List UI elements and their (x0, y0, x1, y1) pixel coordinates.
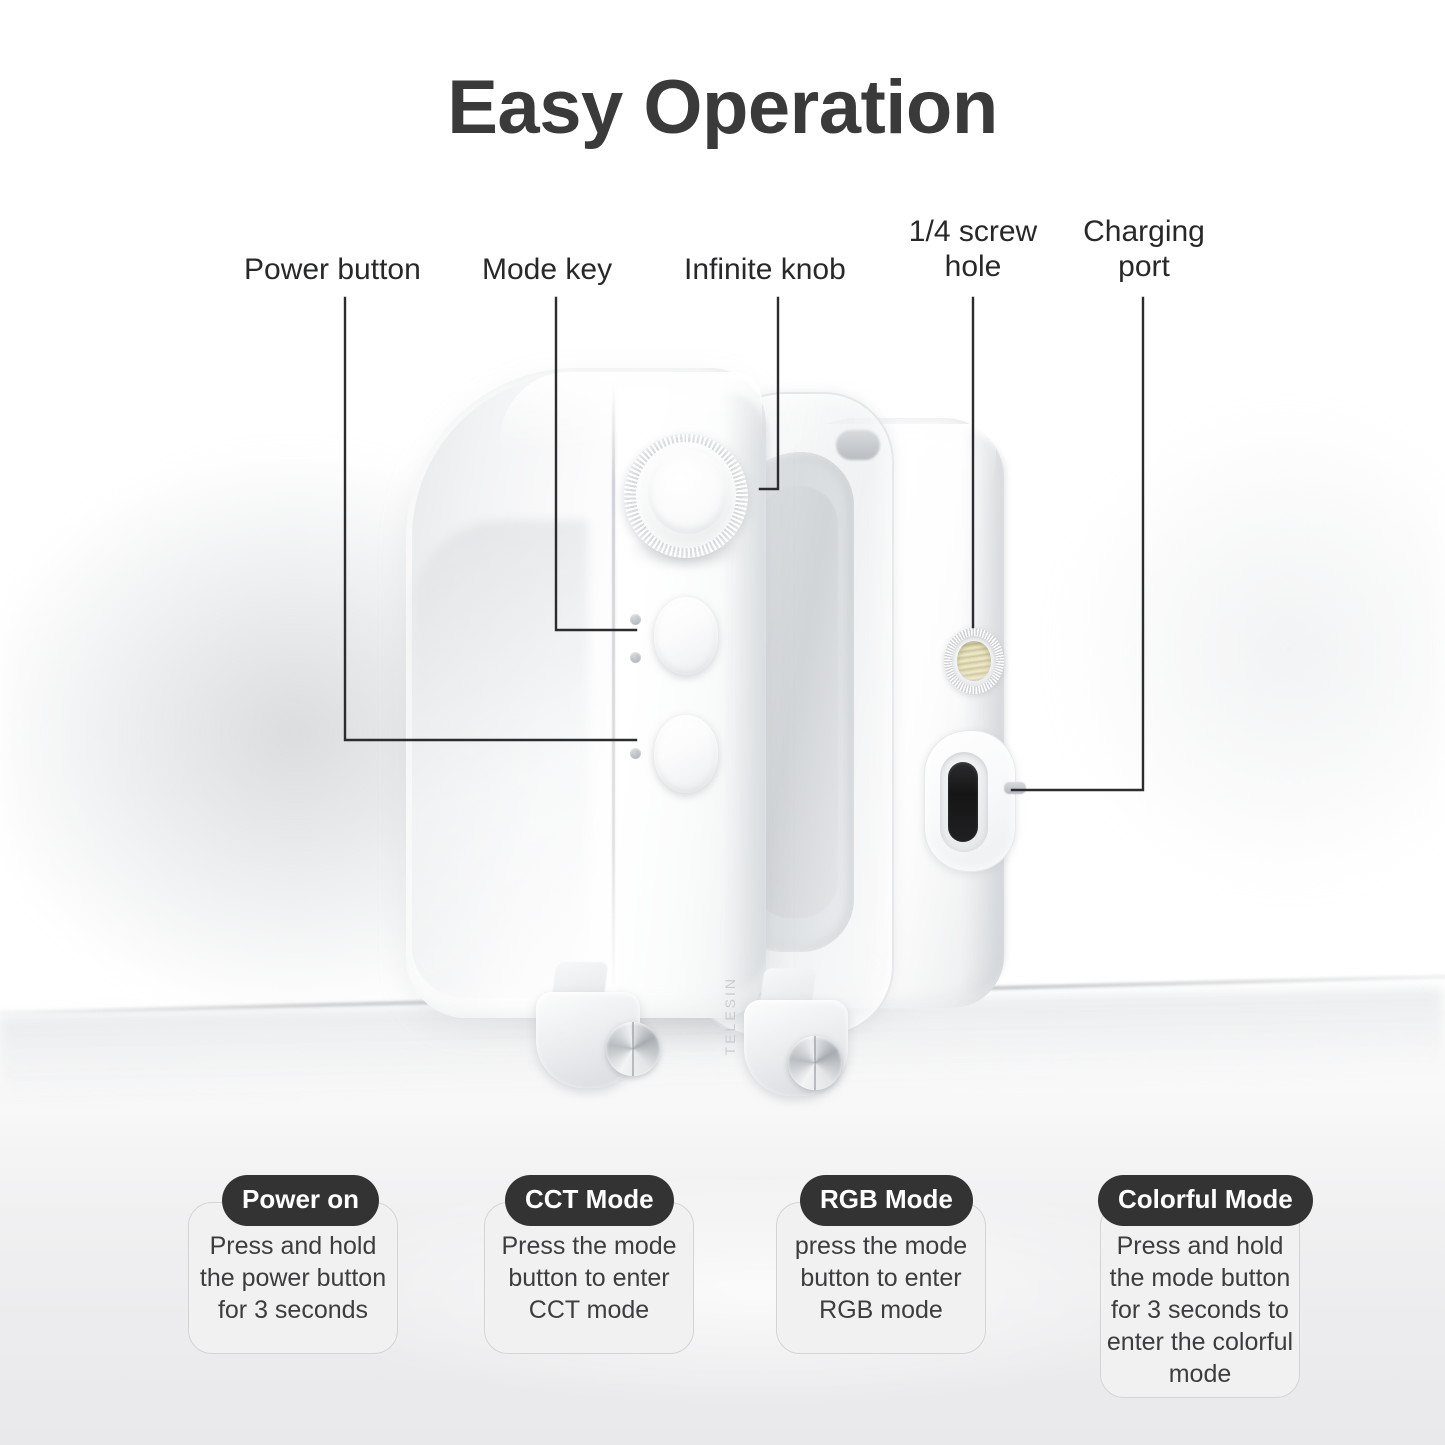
thumb-screw-slot (814, 1036, 816, 1090)
instruction-text-colorful-mode: Press and hold the mode button for 3 sec… (1100, 1230, 1300, 1390)
badge-rgb-mode: RGB Mode (800, 1175, 973, 1226)
thumb-screw-slot (632, 1022, 634, 1076)
charging-port-cover-tab (1004, 782, 1026, 794)
led-indicator-icon (630, 614, 641, 625)
callout-label-screw-hole: 1/4 screw hole (898, 214, 1048, 284)
mode-button[interactable] (654, 597, 718, 675)
infographic-canvas: Easy Operation (0, 0, 1445, 1445)
led-indicator-icon (630, 652, 641, 663)
callout-label-charging-port: Charging port (1069, 214, 1219, 284)
front-unit-seam (612, 386, 615, 992)
badge-cct-mode: CCT Mode (505, 1175, 674, 1226)
badge-power-on: Power on (222, 1175, 379, 1226)
callout-label-mode-key: Mode key (482, 252, 612, 287)
diffuser-hinge (836, 430, 880, 460)
instruction-text-power-on: Press and hold the power button for 3 se… (188, 1230, 398, 1326)
usb-c-port-icon (948, 762, 978, 842)
power-button[interactable] (654, 715, 718, 793)
badge-colorful-mode: Colorful Mode (1098, 1175, 1313, 1226)
callout-label-power-button: Power button (244, 252, 421, 287)
screw-hole-thread (957, 641, 991, 681)
rear-unit-edge-shade (962, 432, 1006, 992)
front-unit-face-shade (412, 520, 588, 994)
instruction-text-cct-mode: Press the mode button to enter CCT mode (484, 1230, 694, 1326)
infinite-knob-cap (648, 450, 728, 534)
led-indicator-icon (630, 748, 641, 759)
brand-logo-text: TELESIN (722, 976, 738, 1055)
instruction-text-rgb-mode: press the mode button to enter RGB mode (776, 1230, 986, 1326)
callout-label-infinite-knob: Infinite knob (684, 252, 846, 287)
